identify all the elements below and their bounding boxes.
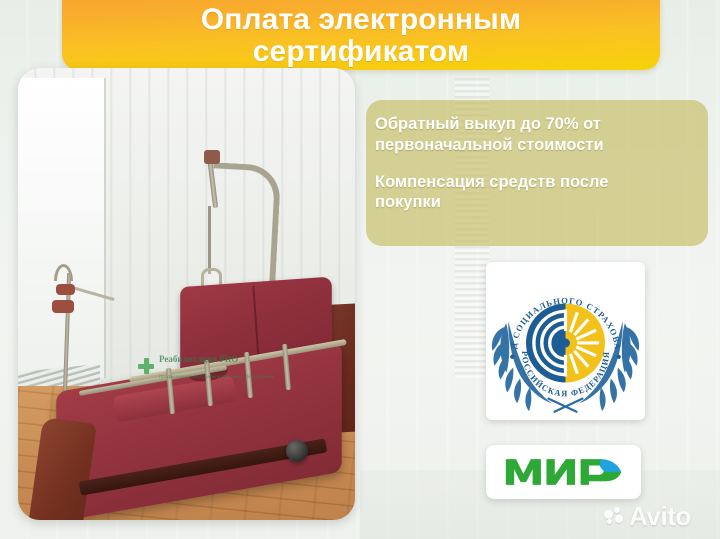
photo-iv-stand-knob <box>56 284 75 295</box>
photo-window <box>18 78 106 378</box>
fss-logo-card: ФОНД СОЦИАЛЬНОГО СТРАХОВАНИЯ РОССИЙСКАЯ … <box>486 262 645 420</box>
photo-watermark: Реабилитация PRO Профессиональное реабил… <box>138 350 355 383</box>
mir-payment-logo-icon <box>504 455 624 489</box>
green-cross-icon <box>138 358 154 374</box>
mir-logo-card <box>486 445 641 499</box>
avito-dots-icon <box>604 507 624 525</box>
promo-image: Оплата электронным сертификатом <box>0 0 720 539</box>
product-photo-card[interactable]: Реабилитация PRO Профессиональное реабил… <box>18 68 355 520</box>
photo-bed-trapeze-strap <box>208 206 211 274</box>
photo-bed-caster <box>286 440 308 462</box>
photo-iv-stand-knob <box>52 300 74 313</box>
benefits-list: Обратный выкуп до 70% от первоначальной … <box>375 114 705 213</box>
photo-bed-trapeze-clamp <box>204 150 220 164</box>
avito-wordmark: Avito <box>629 503 691 529</box>
photo-watermark-subtitle: Профессиональное реабилитационное оборуд… <box>159 374 274 379</box>
title-banner: Оплата электронным сертификатом <box>62 0 660 70</box>
benefit-item: Обратный выкуп до 70% от первоначальной … <box>375 114 705 156</box>
mir-logo-wrap <box>486 445 641 499</box>
page-title: Оплата электронным сертификатом <box>191 4 531 68</box>
photo-watermark-texts: Реабилитация PRO Профессиональное реабил… <box>159 350 355 383</box>
fss-emblem-icon: ФОНД СОЦИАЛЬНОГО СТРАХОВАНИЯ РОССИЙСКАЯ … <box>486 262 645 420</box>
benefit-item: Компенсация средств после покупки <box>375 172 705 214</box>
avito-watermark: Avito <box>604 503 691 529</box>
photo-watermark-title: Реабилитация PRO <box>159 354 238 364</box>
